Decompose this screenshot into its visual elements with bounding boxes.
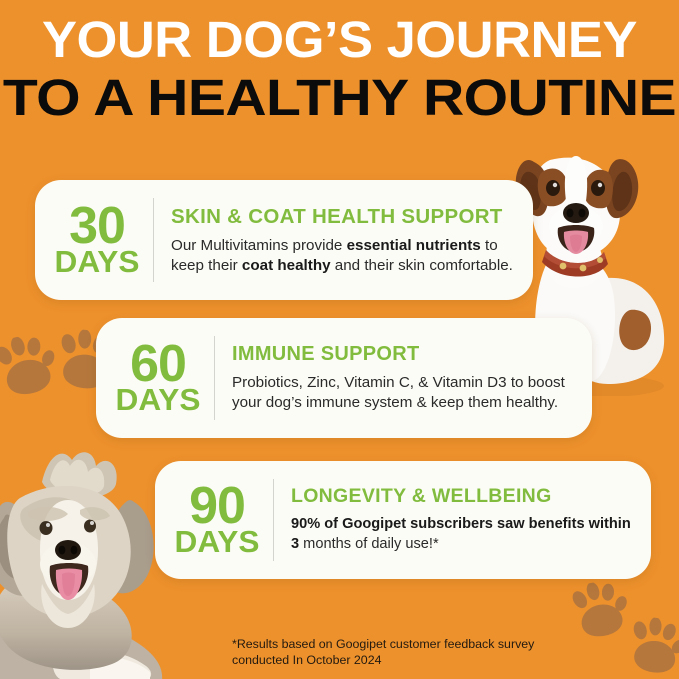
card-title: LONGEVITY & WELLBEING xyxy=(291,485,641,508)
paw-print-icon-left-upper xyxy=(0,330,64,404)
promo-poster: YOUR DOG’S JOURNEY TO A HEALTHY ROUTINE … xyxy=(0,0,679,679)
card-title: IMMUNE SUPPORT xyxy=(232,343,582,366)
card-description: 90% of Googipet subscribers saw benefits… xyxy=(291,515,641,554)
card-days-badge: 90 DAYS xyxy=(155,484,273,555)
days-number: 90 xyxy=(161,484,273,529)
page-title: YOUR DOG’S JOURNEY TO A HEALTHY ROUTINE xyxy=(0,14,679,124)
paw-print-icon-bottom-right-upper xyxy=(563,577,634,645)
card-title: SKIN & COAT HEALTH SUPPORT xyxy=(171,205,523,229)
card-days-badge: 60 DAYS xyxy=(96,342,214,413)
card-body: IMMUNE SUPPORT Probiotics, Zinc, Vitamin… xyxy=(215,343,592,413)
footnote-line-2: conducted In October 2024 xyxy=(232,652,592,668)
days-word: DAYS xyxy=(101,387,215,414)
headline-line-1: YOUR DOG’S JOURNEY xyxy=(0,14,679,66)
days-word: DAYS xyxy=(160,529,274,556)
card-days-badge: 30 DAYS xyxy=(35,204,153,275)
footnote: *Results based on Googipet customer feed… xyxy=(232,636,592,669)
days-number: 30 xyxy=(41,204,153,249)
card-description: Probiotics, Zinc, Vitamin C, & Vitamin D… xyxy=(232,373,582,413)
days-number: 60 xyxy=(102,342,214,387)
benefit-card-30-days: 30 DAYS SKIN & COAT HEALTH SUPPORT Our M… xyxy=(35,180,533,300)
card-body: SKIN & COAT HEALTH SUPPORT Our Multivita… xyxy=(154,205,533,276)
benefit-card-90-days: 90 DAYS LONGEVITY & WELLBEING 90% of Goo… xyxy=(155,461,651,579)
paw-print-icon-bottom-right-lower xyxy=(620,614,679,679)
footnote-line-1: *Results based on Googipet customer feed… xyxy=(232,636,592,652)
card-body: LONGEVITY & WELLBEING 90% of Googipet su… xyxy=(274,485,651,554)
card-description: Our Multivitamins provide essential nutr… xyxy=(171,236,523,276)
benefit-card-60-days: 60 DAYS IMMUNE SUPPORT Probiotics, Zinc,… xyxy=(96,318,592,438)
headline-line-2: TO A HEALTHY ROUTINE xyxy=(0,72,679,124)
days-word: DAYS xyxy=(40,249,154,276)
